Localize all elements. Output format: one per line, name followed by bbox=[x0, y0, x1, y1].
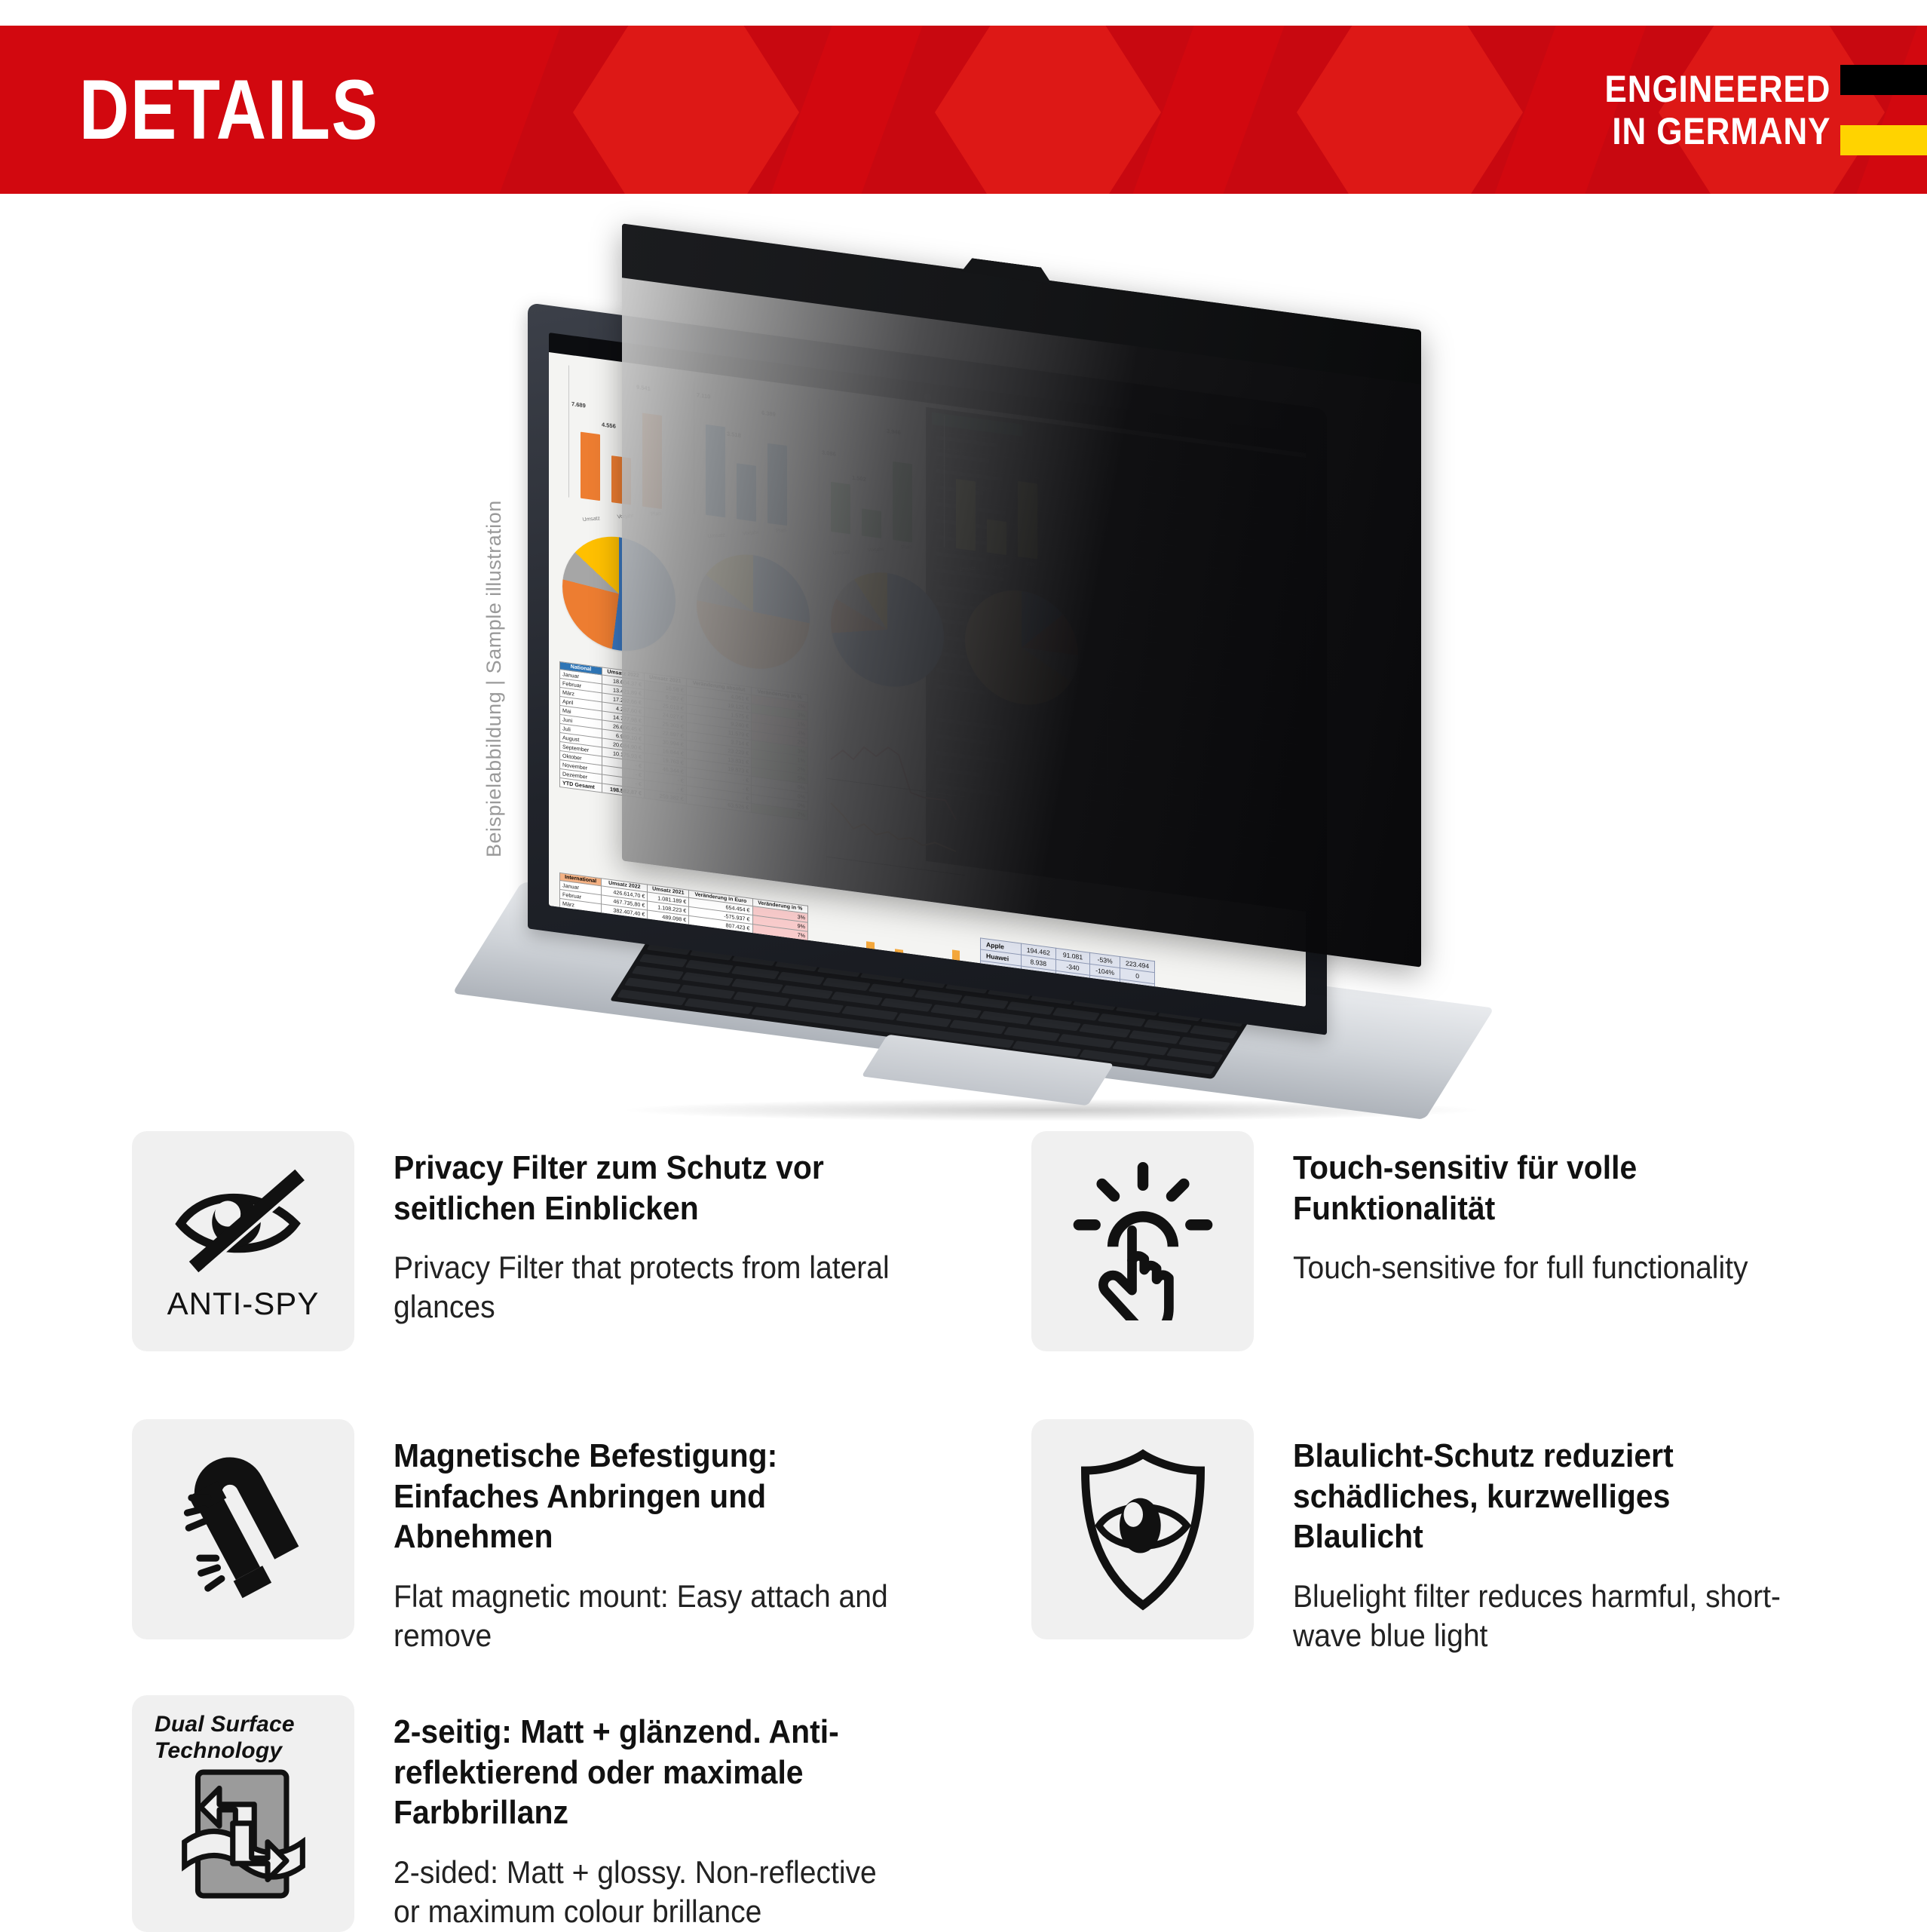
privacy-filter-top-band bbox=[622, 223, 1421, 384]
feature-subline: Flat magnetic mount: Easy attach and rem… bbox=[394, 1577, 899, 1655]
product-hero: Beispielabbildung | Sample illustration bbox=[0, 194, 1927, 1099]
feature-subline: Privacy Filter that protects from latera… bbox=[394, 1248, 899, 1326]
anti-spy-eye-icon bbox=[172, 1161, 315, 1281]
shield-eye-icon bbox=[1076, 1449, 1210, 1611]
privacy-filter-panel[interactable] bbox=[622, 223, 1421, 967]
feature-headline: Privacy Filter zum Schutz vor seitlichen… bbox=[394, 1148, 899, 1228]
feature-headline: Blaulicht-Schutz reduziert schädliches, … bbox=[1293, 1436, 1798, 1557]
dual-surface-icon-box: Dual Surface Technology bbox=[132, 1695, 354, 1932]
dual-surface-caption: Dual Surface Technology bbox=[155, 1712, 332, 1764]
page-title: DETAILS bbox=[79, 68, 379, 152]
feature-subline: Bluelight filter reduces harmful, short-… bbox=[1293, 1577, 1798, 1655]
magnet-icon-box bbox=[132, 1419, 354, 1639]
feature-headline: Magnetische Befestigung: Einfaches Anbri… bbox=[394, 1436, 899, 1557]
dual-surface-caption-line1: Dual Surface bbox=[155, 1712, 295, 1737]
shield-icon-box bbox=[1031, 1419, 1254, 1639]
feature-headline: 2-seitig: Matt + glänzend. Anti-reflekti… bbox=[394, 1712, 899, 1833]
feature-dual-surface: Dual Surface Technology 2-seitig: Matt +… bbox=[132, 1695, 936, 1932]
anti-spy-icon-caption: ANTI-SPY bbox=[167, 1286, 320, 1322]
engineered-line-2: IN GERMANY bbox=[1605, 110, 1831, 152]
magnet-icon bbox=[172, 1454, 315, 1605]
laptop-product-image: 7.689 4.556 9.541 UmsatzVorjahrPlan bbox=[483, 277, 1704, 1091]
engineered-in-germany-badge: ENGINEERED IN GERMANY bbox=[1573, 65, 1927, 155]
engineered-line-1: ENGINEERED bbox=[1605, 68, 1831, 110]
feature-anti-spy: ANTI-SPY Privacy Filter zum Schutz vor s… bbox=[132, 1131, 936, 1351]
feature-subline: 2-sided: Matt + glossy. Non-reflective o… bbox=[394, 1853, 899, 1931]
feature-headline: Touch-sensitiv für volle Funktionalität bbox=[1293, 1148, 1798, 1228]
feature-magnetic-mount: Magnetische Befestigung: Einfaches Anbri… bbox=[132, 1419, 936, 1655]
page-header-banner: DETAILS ENGINEERED IN GERMANY bbox=[0, 26, 1927, 194]
brand-name: Xiaomi bbox=[981, 972, 1022, 989]
anti-spy-icon-box: ANTI-SPY bbox=[132, 1131, 354, 1351]
feature-bluelight-filter: Blaulicht-Schutz reduziert schädliches, … bbox=[1031, 1419, 1836, 1655]
feature-touch-sensitive: Touch-sensitiv für volle Funktionalität … bbox=[1031, 1131, 1836, 1351]
dual-surface-icon bbox=[172, 1767, 315, 1901]
german-flag-icon bbox=[1840, 65, 1927, 155]
touch-finger-icon bbox=[1068, 1162, 1218, 1320]
dual-surface-caption-line2: Technology bbox=[155, 1738, 282, 1763]
touch-icon-box bbox=[1031, 1131, 1254, 1351]
feature-subline: Touch-sensitive for full functionality bbox=[1293, 1248, 1798, 1287]
